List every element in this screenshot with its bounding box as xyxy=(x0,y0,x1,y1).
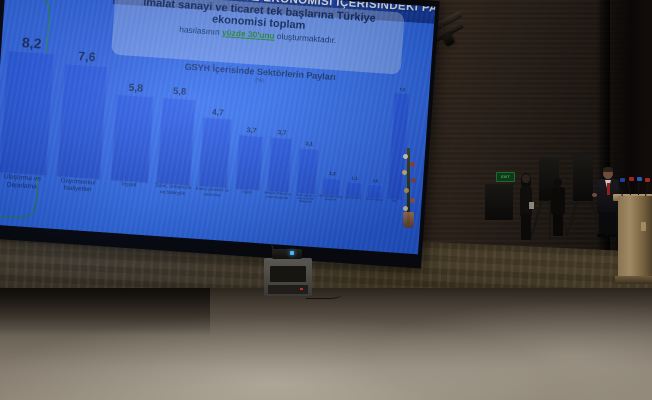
projector-led-icon xyxy=(290,251,294,255)
microphone-flag xyxy=(620,178,625,182)
torso xyxy=(520,186,532,216)
exit-sign-label: EXIT xyxy=(501,175,509,179)
legs xyxy=(553,214,563,236)
legs xyxy=(521,214,531,240)
av-cart-shelf xyxy=(270,266,306,282)
cable xyxy=(306,288,342,299)
torso xyxy=(551,187,565,215)
microphone-flag xyxy=(637,177,642,181)
shoe xyxy=(608,234,617,237)
flower-icon xyxy=(402,170,407,175)
camera-operator xyxy=(550,178,566,236)
vase xyxy=(403,212,414,228)
podium xyxy=(618,196,652,282)
legs xyxy=(599,212,616,236)
flower-arrangement xyxy=(399,148,421,224)
projected-slide: TİCARETİN TÜRKİYE EKONOMİSİ İÇERİSİNDEKİ… xyxy=(0,0,435,254)
standing-attendee xyxy=(518,174,534,240)
conference-hall-photo: TİCARETİN TÜRKİYE EKONOMİSİ İÇERİSİNDEKİ… xyxy=(0,0,652,400)
flower-icon xyxy=(410,198,415,203)
exit-sign: EXIT xyxy=(496,172,515,182)
projection-screen: TİCARETİN TÜRKİYE EKONOMİSİ İÇERİSİNDEKİ… xyxy=(0,0,440,269)
hand xyxy=(592,193,597,197)
head xyxy=(554,178,562,187)
necktie xyxy=(607,183,610,195)
floor-shadow xyxy=(0,288,210,336)
flower-icon xyxy=(411,178,416,183)
microphone-flag xyxy=(645,178,650,182)
flower-icon xyxy=(410,162,415,167)
screen-vignette xyxy=(0,0,435,254)
flower-icon xyxy=(403,154,408,159)
flower-icon xyxy=(403,206,408,211)
equipment-box xyxy=(485,184,513,220)
head xyxy=(522,174,530,183)
stage-light-icon xyxy=(442,33,455,47)
pa-speaker xyxy=(573,155,593,201)
projector xyxy=(272,249,302,259)
podium-emblem xyxy=(641,222,646,231)
microphone-flag xyxy=(629,177,634,181)
shoe xyxy=(597,234,606,237)
power-led-icon xyxy=(300,288,303,290)
held-papers xyxy=(529,202,534,209)
hair xyxy=(603,167,613,172)
podium-base xyxy=(615,276,652,284)
flower-icon xyxy=(404,188,409,193)
